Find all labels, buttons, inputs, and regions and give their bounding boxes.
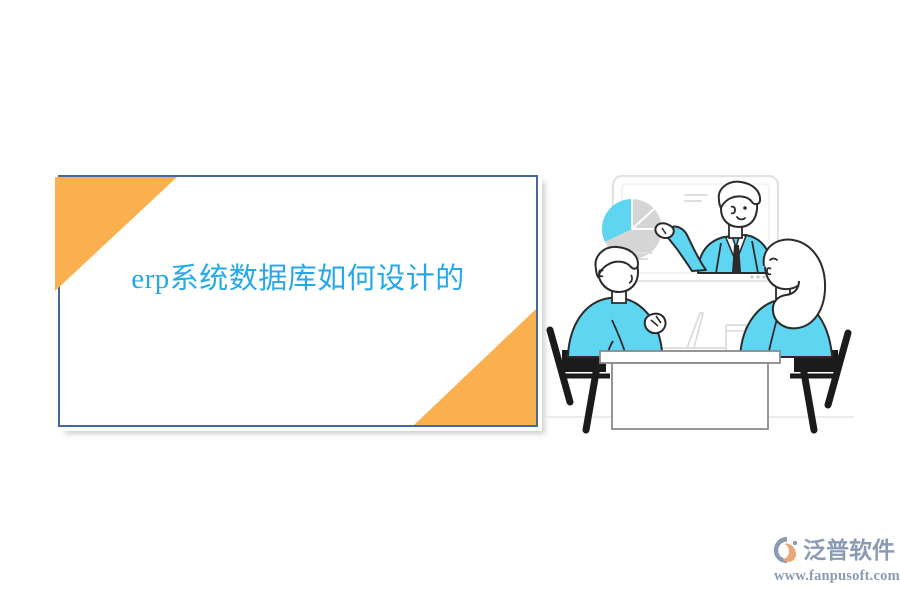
screen-status-dots: [750, 275, 765, 278]
title-card: erp系统数据库如何设计的: [58, 175, 538, 427]
desk: [600, 351, 780, 429]
watermark-brand-name: 泛普软件: [803, 539, 895, 562]
fanpu-logo-icon: [772, 535, 802, 565]
video-conference-illustration: [540, 165, 860, 465]
page-canvas: erp系统数据库如何设计的: [0, 0, 900, 600]
page-title: erp系统数据库如何设计的: [60, 261, 536, 297]
orange-corner-triangle-bottom-right: [414, 309, 536, 425]
watermark: 泛普软件 www.fanpusoft.com: [772, 533, 894, 589]
watermark-url: www.fanpusoft.com: [774, 568, 894, 585]
